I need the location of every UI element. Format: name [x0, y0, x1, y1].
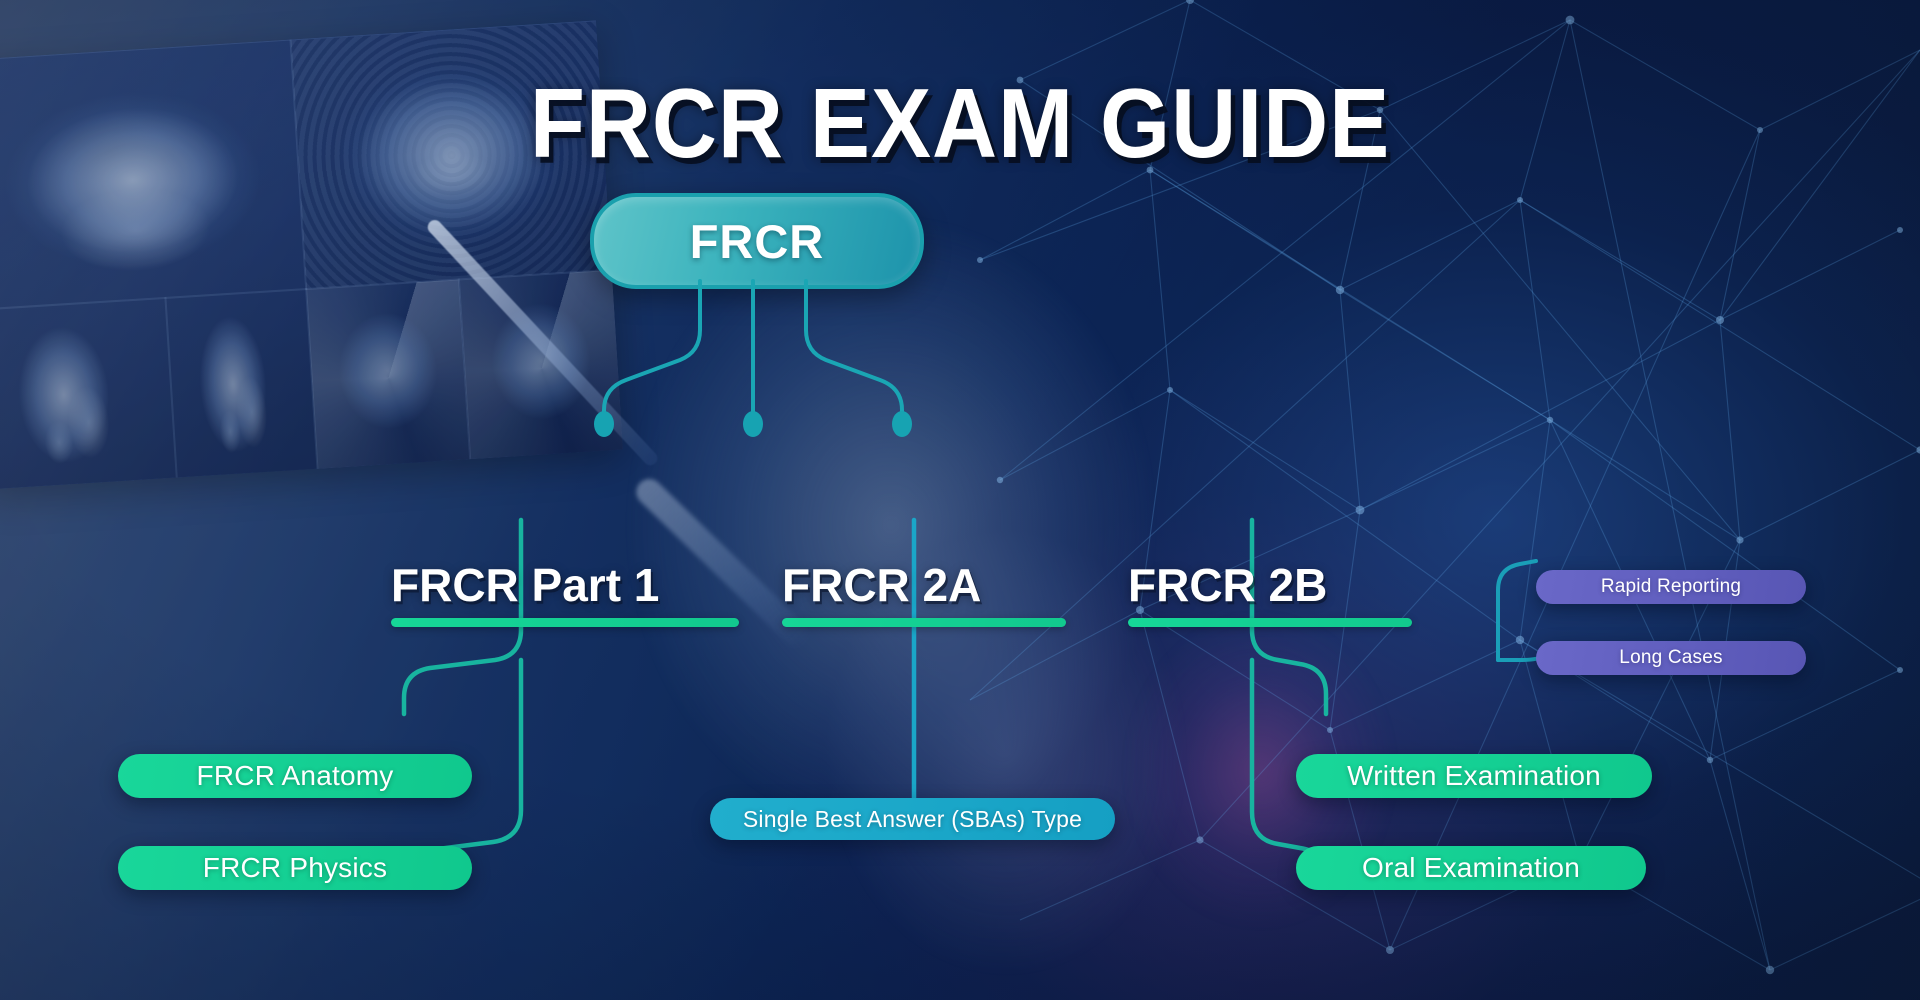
leaf-pill-frcr-anatomy-label: FRCR Anatomy	[118, 760, 472, 792]
leaf-pill-frcr-physics[interactable]: FRCR Physics	[118, 846, 472, 890]
leaf-pill-sba-type-label: Single Best Answer (SBAs) Type	[710, 806, 1115, 833]
branch-heading-3-underline	[1128, 618, 1412, 627]
leaf-pill-frcr-anatomy[interactable]: FRCR Anatomy	[118, 754, 472, 798]
branch-heading-2-underline	[782, 618, 1066, 627]
leaf-pill-rapid-reporting-label: Rapid Reporting	[1536, 576, 1806, 598]
leaf-pill-rapid-reporting[interactable]: Rapid Reporting	[1536, 570, 1806, 604]
branch-heading-3[interactable]: FRCR 2B	[1128, 562, 1412, 627]
leaf-pill-long-cases-label: Long Cases	[1536, 647, 1806, 669]
leaf-pill-frcr-physics-label: FRCR Physics	[118, 852, 472, 884]
infographic-canvas: FRCR EXAM GUIDE FRCR	[0, 0, 1920, 1000]
branch-heading-1-label: FRCR Part 1	[391, 562, 739, 608]
branch-heading-3-label: FRCR 2B	[1128, 562, 1412, 608]
leaf-pill-sba-type[interactable]: Single Best Answer (SBAs) Type	[710, 798, 1115, 840]
leaf-pill-written-examination-label: Written Examination	[1296, 760, 1652, 792]
leaf-pill-oral-examination-label: Oral Examination	[1296, 852, 1646, 884]
root-node-frcr[interactable]: FRCR	[590, 193, 924, 289]
leaf-pill-long-cases[interactable]: Long Cases	[1536, 641, 1806, 675]
page-title: FRCR EXAM GUIDE	[77, 74, 1843, 172]
branch-heading-1[interactable]: FRCR Part 1	[391, 562, 739, 627]
root-node-label: FRCR	[690, 214, 825, 269]
branch-heading-2[interactable]: FRCR 2A	[782, 562, 1066, 627]
leaf-pill-written-examination[interactable]: Written Examination	[1296, 754, 1652, 798]
branch-heading-2-label: FRCR 2A	[782, 562, 1066, 608]
leaf-pill-oral-examination[interactable]: Oral Examination	[1296, 846, 1646, 890]
branch-heading-1-underline	[391, 618, 739, 627]
